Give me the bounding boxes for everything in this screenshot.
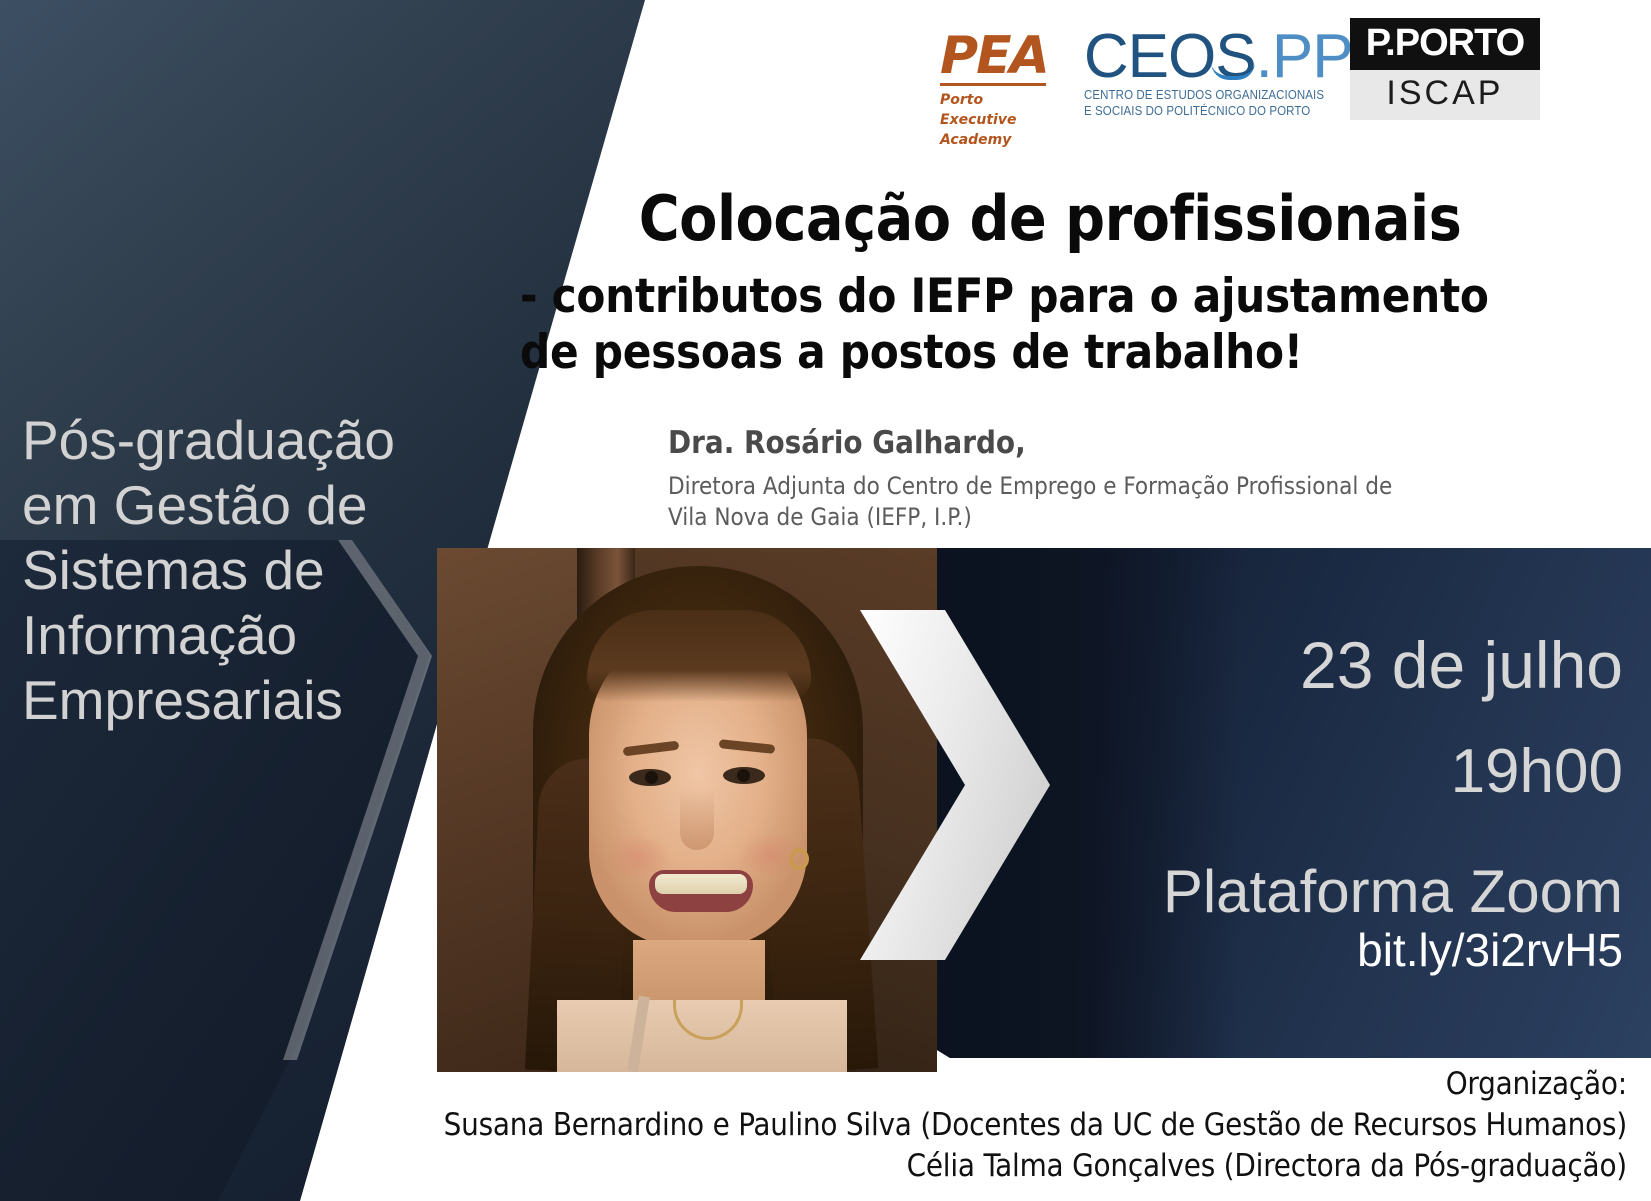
event-subtitle: - contributos do IEFP para o ajustamento… — [520, 269, 1580, 380]
logo-pea-line-2: Executive — [940, 111, 1048, 131]
event-time: 19h00 — [983, 739, 1623, 806]
photo-pupil-left — [645, 771, 658, 784]
speaker-block: Dra. Rosário Galhardo, Diretora Adjunta … — [668, 425, 1468, 534]
logo-pporto-iscap: P.PORTO ISCAP — [1350, 18, 1540, 120]
logo-ceos-wordmark: CEO S .PP — [1084, 28, 1314, 87]
programme-title: Pós-graduação em Gestão de Sistemas de I… — [22, 408, 492, 732]
organisation-line-2: Célia Talma Gonçalves (Directora da Pós-… — [427, 1146, 1627, 1187]
photo-mouth — [649, 870, 753, 912]
logo-pea-line-1: Porto — [940, 91, 1048, 111]
logo-ceos-s: S — [1215, 28, 1255, 87]
photo-nose — [680, 788, 714, 850]
photo-teeth — [655, 874, 747, 894]
title-block: Colocação de profissionais - contributos… — [520, 186, 1580, 380]
programme-line-2: em Gestão de — [22, 473, 492, 538]
logo-ceos-ceo: CEO — [1084, 28, 1215, 87]
speaker-name: Dra. Rosário Galhardo, — [668, 425, 1468, 462]
photo-fringe — [587, 610, 811, 702]
logo-bar: PEA Porto Executive Academy CEO S .PP CE… — [940, 18, 1540, 143]
event-subtitle-line-1: - contributos do IEFP para o ajustamento — [520, 269, 1580, 324]
logo-ceos-subtitle-1: CENTRO DE ESTUDOS ORGANIZACIONAIS — [1084, 87, 1296, 104]
speaker-role: Diretora Adjunta do Centro de Emprego e … — [668, 471, 1468, 533]
event-subtitle-line-2: de pessoas a postos de trabalho! — [520, 325, 1580, 380]
event-register-link[interactable]: bit.ly/3i2rvH5 — [983, 926, 1623, 976]
logo-pea-line-3: Academy — [940, 131, 1048, 151]
organisation-label: Organização: — [427, 1064, 1627, 1105]
logo-pea-acronym: PEA — [940, 32, 1048, 81]
logo-pporto-iscap-label: ISCAP — [1350, 70, 1540, 120]
event-details: 23 de julho 19h00 Plataforma Zoom bit.ly… — [983, 630, 1623, 975]
event-title: Colocação de profissionais — [520, 186, 1580, 251]
programme-line-3: Sistemas de — [22, 538, 492, 603]
logo-ceos-pp: .PP — [1256, 28, 1353, 87]
speaker-photo-inner — [437, 548, 937, 1072]
programme-line-5: Empresariais — [22, 668, 492, 733]
event-platform: Plataforma Zoom — [983, 860, 1623, 924]
logo-ceos-pp: CEO S .PP CENTRO DE ESTUDOS ORGANIZACION… — [1084, 18, 1314, 120]
photo-earring — [789, 848, 809, 870]
organisation-block: Organização: Susana Bernardino e Paulino… — [427, 1064, 1627, 1187]
programme-line-1: Pós-graduação — [22, 408, 492, 473]
logo-pporto-top: P.PORTO — [1350, 18, 1540, 70]
programme-line-4: Informação — [22, 603, 492, 668]
event-poster: PEA Porto Executive Academy CEO S .PP CE… — [0, 0, 1651, 1201]
speaker-role-line-1: Diretora Adjunta do Centro de Emprego e … — [668, 471, 1468, 502]
logo-pea: PEA Porto Executive Academy — [940, 18, 1048, 151]
organisation-line-1: Susana Bernardino e Paulino Silva (Docen… — [427, 1105, 1627, 1146]
speaker-photo — [437, 548, 937, 1072]
photo-pupil-right — [737, 769, 750, 782]
event-date: 23 de julho — [983, 630, 1623, 701]
logo-ceos-subtitle-2: E SOCIAIS DO POLITÉCNICO DO PORTO — [1084, 103, 1296, 120]
speaker-role-line-2: Vila Nova de Gaia (IEFP, I.P.) — [668, 502, 1468, 533]
